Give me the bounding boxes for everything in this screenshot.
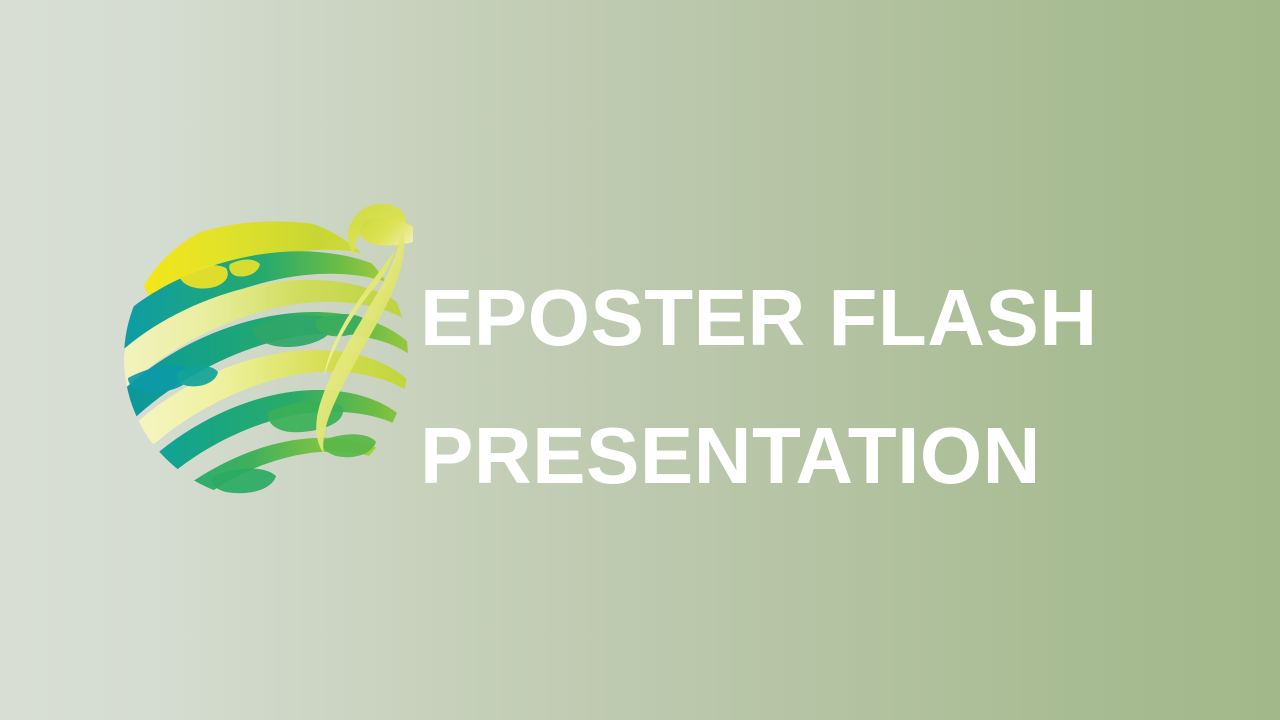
globe-ribbon-leaf-logo <box>118 200 413 515</box>
title-line-1: EPOSTER FLASH <box>420 249 1220 387</box>
title-line-2: PRESENTATION <box>420 387 1220 525</box>
title-slide: EPOSTER FLASH PRESENTATION <box>0 0 1280 720</box>
slide-title: EPOSTER FLASH PRESENTATION <box>420 249 1220 525</box>
globe-bands <box>118 204 413 515</box>
